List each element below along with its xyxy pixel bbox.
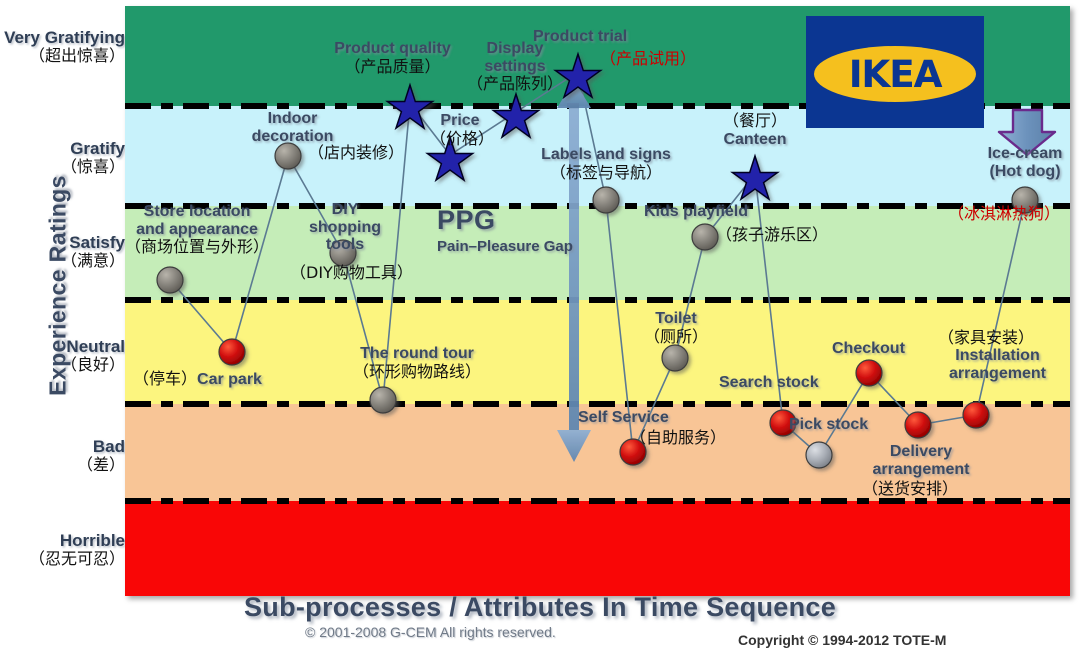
label-round-tour: The round tour （环形购物路线） — [332, 345, 502, 380]
label-search-stock: Search stock — [719, 374, 819, 392]
label-delivery-arrangement: Delivery arrangement — [851, 443, 991, 478]
label-text-line2: arrangement — [949, 365, 1046, 382]
label-text-en: Price — [440, 112, 479, 129]
label-store-location: Store location and appearance （商场位置与外形） — [117, 203, 277, 256]
label-diy-tools-cn: （DIY购物工具） — [290, 264, 413, 283]
label-price: Price （价格） — [430, 112, 490, 147]
label-text-en: Pick stock — [789, 416, 868, 433]
label-toilet: Toilet （厕所） — [640, 310, 712, 345]
label-text-cn: （产品陈列） — [465, 75, 565, 93]
y-label-en: Bad — [93, 437, 125, 456]
ikea-logo-text: IKEA — [804, 46, 985, 102]
label-text-cn: （孩子游乐区） — [716, 225, 828, 244]
label-text-line2: settings — [484, 58, 545, 75]
y-axis-title: Experience Ratings — [45, 136, 72, 436]
label-text-line1: Delivery — [890, 443, 952, 460]
ikea-logo-oval: IKEA — [814, 46, 976, 102]
label-self-service-cn: （自助服务） — [630, 429, 726, 448]
ppg-title: PPG — [437, 205, 573, 236]
label-text-line2: and appearance — [136, 221, 258, 238]
label-indoor-decoration: Indoor decoration — [240, 110, 345, 145]
label-self-service: Self Service — [578, 409, 669, 427]
label-text-cn: （送货安排） — [862, 479, 958, 498]
label-canteen: （餐厅） Canteen — [700, 112, 810, 148]
y-label-neutral: Neutral （良好） — [0, 337, 125, 374]
label-labels-and-signs: Labels and signs （标签与导航） — [516, 146, 696, 181]
y-label-en: Neutral — [66, 337, 125, 356]
y-label-en: Horrible — [60, 531, 125, 550]
label-text-en: Kids playfield — [644, 203, 748, 220]
y-label-satisfy: Satisfy （满意） — [0, 233, 125, 270]
y-label-very-gratifying: Very Gratifying （超出惊喜） — [0, 28, 125, 65]
y-label-gratify: Gratify （惊喜） — [0, 139, 125, 176]
label-text-cn: （价格） — [430, 130, 490, 148]
label-text-cn: （自助服务） — [630, 428, 726, 447]
band-horrible — [125, 501, 1070, 596]
label-text-en: Checkout — [832, 340, 905, 357]
label-text-cn: （产品质量） — [320, 58, 465, 76]
y-label-horrible: Horrible （忍无可忍） — [0, 531, 125, 568]
label-text-cn: （环形购物路线） — [332, 363, 502, 381]
y-label-bad: Bad （差） — [0, 437, 125, 474]
label-product-trial-cn: （产品试用） — [600, 50, 696, 69]
label-installation-arrangement: Installation arrangement — [925, 347, 1070, 382]
ikea-logo: IKEA — [806, 16, 984, 128]
grid-divider-5 — [125, 498, 1070, 504]
y-label-cn: （差） — [0, 456, 125, 474]
label-car-park: （停车）Car park — [133, 370, 262, 389]
copyright-totem: Copyright © 1994-2012 TOTE-M — [738, 632, 946, 648]
label-text-cn: （家具安装） — [938, 328, 1034, 347]
label-product-trial: Product trial — [533, 28, 627, 46]
label-checkout: Checkout — [832, 340, 905, 358]
label-text-cn: （产品试用） — [600, 49, 696, 68]
label-text-en: Self Service — [578, 409, 669, 426]
label-text-en: Toilet — [655, 310, 696, 327]
label-text-cn: （标签与导航） — [516, 164, 696, 182]
grid-divider-3 — [125, 297, 1070, 303]
label-ice-cream-cn: （冰淇淋热狗） — [948, 205, 1060, 224]
label-text-cn: （店内装修） — [308, 143, 404, 162]
label-display-settings: Display settings （产品陈列） — [465, 40, 565, 93]
y-label-cn: （超出惊喜） — [0, 47, 125, 65]
y-label-cn: （惊喜） — [0, 158, 125, 176]
label-kids-playfield-cn: （孩子游乐区） — [716, 226, 828, 245]
grid-divider-4 — [125, 401, 1070, 407]
label-ice-cream: Ice-cream (Hot dog) — [965, 145, 1080, 180]
label-text-line1: Installation — [955, 347, 1039, 364]
label-text-cn: （停车） — [133, 369, 197, 388]
label-text-line1: Ice-cream — [988, 145, 1063, 162]
y-label-en: Very Gratifying — [4, 28, 125, 47]
label-kids-playfield: Kids playfield — [644, 203, 748, 221]
label-text-cn: （商场位置与外形） — [117, 238, 277, 256]
label-text-cn: （餐厅） — [723, 111, 787, 130]
label-text-line2: (Hot dog) — [989, 163, 1060, 180]
y-label-cn: （忍无可忍） — [0, 550, 125, 568]
label-text-line2: arrangement — [873, 461, 970, 478]
label-indoor-decoration-cn: （店内装修） — [308, 144, 404, 163]
journey-map-figure: Experience Ratings Very Gratifying （超出惊喜… — [0, 0, 1080, 651]
label-text-en: Car park — [197, 371, 262, 388]
ppg-annotation: PPG Pain–Pleasure Gap — [437, 205, 573, 255]
copyright-gcem: © 2001-2008 G-CEM All rights reserved. — [305, 624, 556, 640]
y-label-cn: （满意） — [0, 252, 125, 270]
label-text-en: Search stock — [719, 374, 819, 391]
label-text-line1: Store location — [144, 203, 251, 220]
label-text-line2: shopping — [309, 219, 381, 236]
y-label-cn: （良好） — [0, 356, 125, 374]
label-product-quality: Product quality （产品质量） — [320, 40, 465, 75]
ppg-subtitle: Pain–Pleasure Gap — [437, 238, 573, 255]
label-text-en: The round tour — [360, 345, 474, 362]
label-text-en: Canteen — [723, 131, 786, 148]
label-pick-stock: Pick stock — [789, 416, 868, 434]
label-text-line1: Indoor — [268, 110, 318, 127]
label-text-cn: （DIY购物工具） — [290, 263, 413, 282]
label-text-line1: DIY — [332, 201, 359, 218]
label-installation-cn: （家具安装） — [938, 329, 1034, 348]
label-text-en: Labels and signs — [541, 146, 671, 163]
label-text-en: Product trial — [533, 28, 627, 45]
label-delivery-arrangement-cn: （送货安排） — [862, 480, 958, 499]
y-label-en: Gratify — [70, 139, 125, 158]
x-axis-title: Sub-processes / Attributes In Time Seque… — [0, 592, 1080, 623]
label-text-cn: （冰淇淋热狗） — [948, 204, 1060, 223]
label-diy-tools: DIY shopping tools — [300, 201, 390, 254]
label-text-cn: （厕所） — [640, 328, 712, 346]
label-text-en: Product quality — [334, 40, 450, 57]
label-text-line3: tools — [326, 236, 364, 253]
